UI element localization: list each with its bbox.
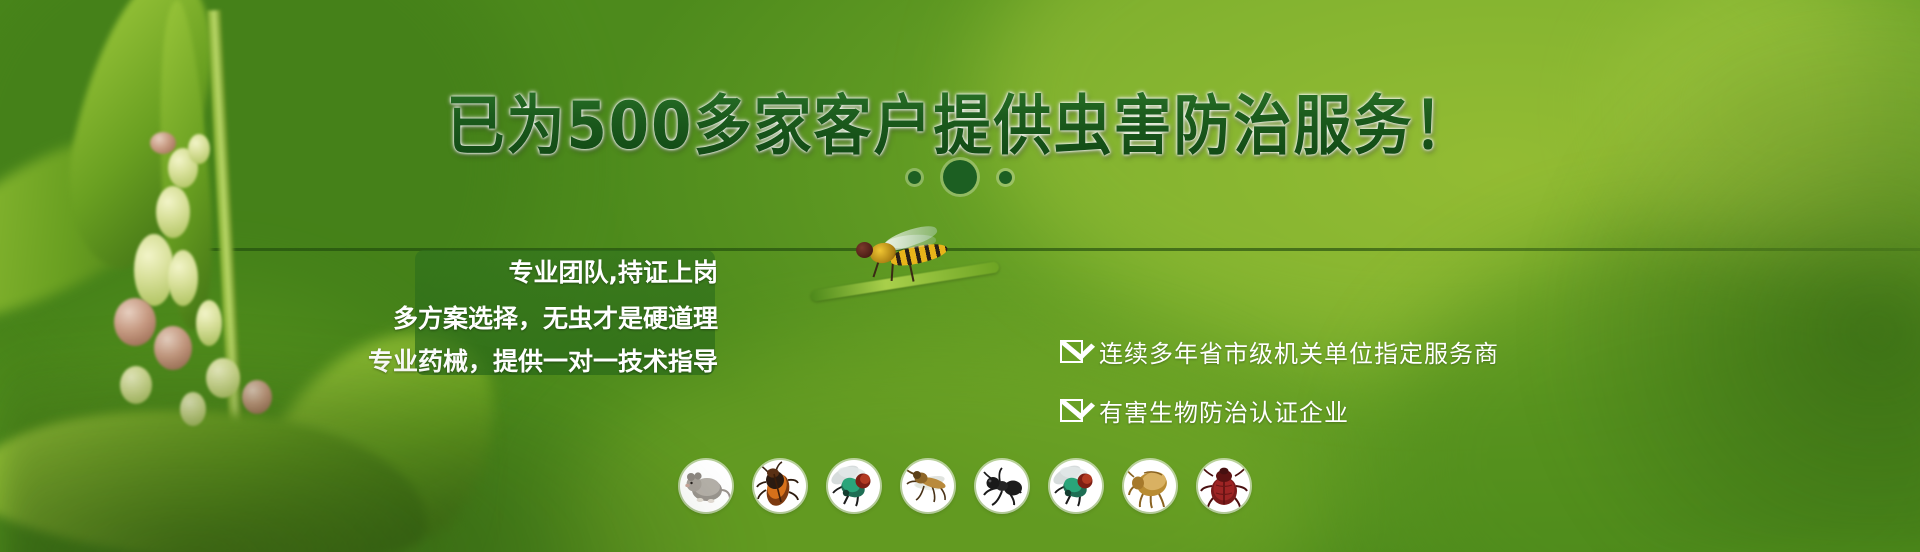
panel-line-1: 专业团队,持证上岗	[340, 258, 740, 288]
hoverfly-icon	[848, 232, 958, 280]
bullet-item: 有害生物防治认证企业	[1060, 393, 1499, 428]
ant-icon[interactable]	[976, 460, 1028, 512]
panel-line-2: 多方案选择，无虫才是硬道理	[340, 304, 740, 334]
promotional-banner: 已为500多家客户提供虫害防治服务！ 专业团队,持证上岗 多方案选择，无虫才是硬…	[0, 0, 1920, 552]
right-shadow	[1540, 0, 1920, 552]
flea-icon[interactable]	[1124, 460, 1176, 512]
mosquito-icon[interactable]	[902, 460, 954, 512]
pest-icon-row	[680, 460, 1250, 512]
bottom-left-shadow	[0, 332, 760, 552]
cockroach-icon[interactable]	[754, 460, 806, 512]
dot-large-icon	[943, 160, 977, 194]
bullet-text: 连续多年省市级机关单位指定服务商	[1099, 334, 1499, 369]
bullet-text: 有害生物防治认证企业	[1099, 393, 1349, 428]
headline-text: 已为500多家客户提供虫害防治服务！	[446, 73, 1473, 167]
insect-on-stem-decoration	[800, 238, 1020, 308]
blowfly-icon[interactable]	[1050, 460, 1102, 512]
dot-small-icon	[908, 171, 921, 184]
bullet-item: 连续多年省市级机关单位指定服务商	[1060, 334, 1499, 369]
certification-bullets: 连续多年省市级机关单位指定服务商 有害生物防治认证企业	[1060, 334, 1499, 452]
housefly-icon[interactable]	[828, 460, 880, 512]
bedbug-icon[interactable]	[1198, 460, 1250, 512]
check-box-icon	[1060, 399, 1083, 422]
dot-small-icon	[999, 171, 1012, 184]
check-box-icon	[1060, 340, 1083, 363]
